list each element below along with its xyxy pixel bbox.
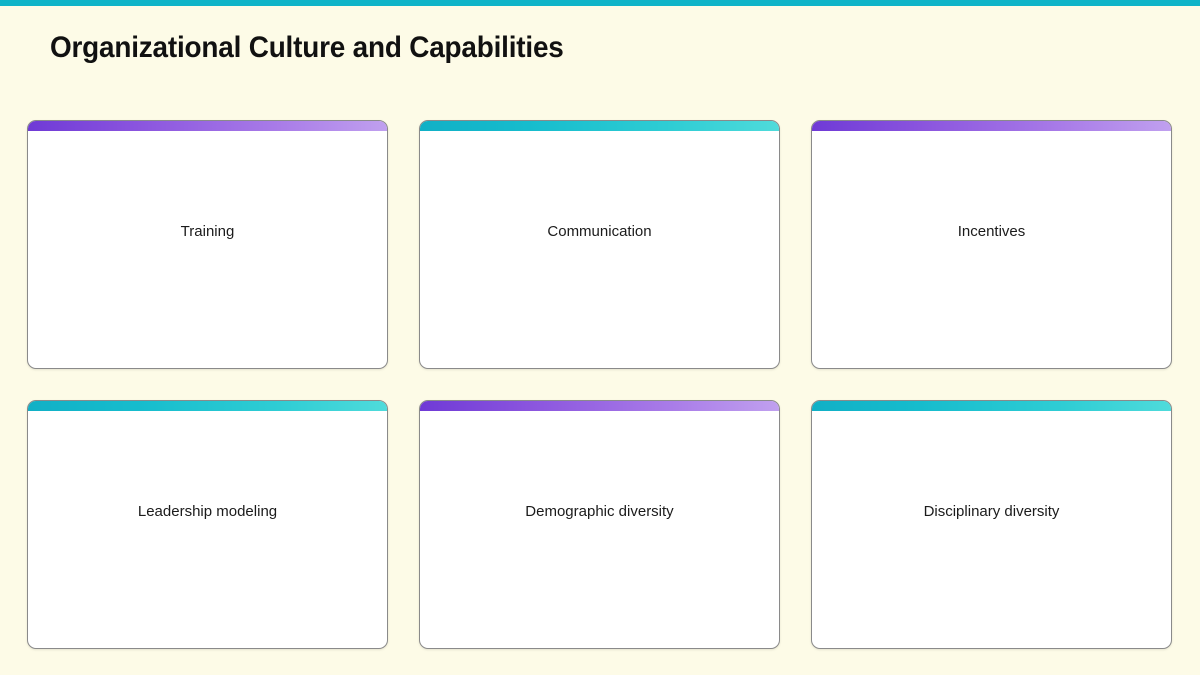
card-disciplinary-diversity[interactable]: Disciplinary diversity [811,400,1172,649]
card-leadership-modeling[interactable]: Leadership modeling [27,400,388,649]
card-label: Disciplinary diversity [812,502,1171,522]
card-accent-bar [28,121,387,131]
page-title: Organizational Culture and Capabilities [50,28,564,68]
card-accent-bar [812,121,1171,131]
card-label: Communication [420,222,779,242]
top-accent-strip [0,0,1200,6]
card-communication[interactable]: Communication [419,120,780,369]
card-label: Leadership modeling [28,502,387,522]
card-accent-bar [420,401,779,411]
card-grid: Training Communication Incentives Leader… [27,120,1173,648]
slide-canvas: Organizational Culture and Capabilities … [0,0,1200,675]
card-demographic-diversity[interactable]: Demographic diversity [419,400,780,649]
card-incentives[interactable]: Incentives [811,120,1172,369]
card-label: Training [28,222,387,242]
card-label: Incentives [812,222,1171,242]
card-accent-bar [28,401,387,411]
card-training[interactable]: Training [27,120,388,369]
card-accent-bar [420,121,779,131]
card-label: Demographic diversity [420,502,779,522]
card-accent-bar [812,401,1171,411]
